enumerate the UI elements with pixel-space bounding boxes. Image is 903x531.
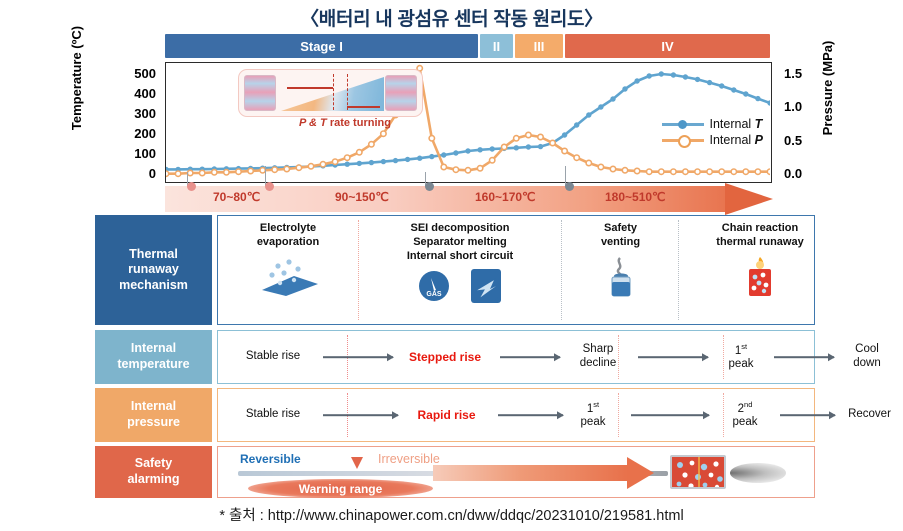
row-label-line: temperature: [117, 357, 189, 373]
series-marker: [671, 169, 676, 174]
series-marker: [755, 96, 760, 101]
legend-swatch-internal-t: [662, 123, 704, 126]
series-marker: [574, 122, 579, 127]
y-tick-right-1.0: 1.0: [784, 99, 826, 114]
stage-segment-4: IV: [565, 34, 770, 58]
row-body-mechanism: Electrolyte evaporationSEI decomposition…: [217, 215, 815, 325]
mechanism-divider-1: [358, 220, 359, 320]
series-marker: [465, 148, 470, 153]
series-marker: [345, 155, 350, 160]
figure-root: 〈배터리 내 광섬유 센터 작동 원리도〉 Stage IIIIIIIV Tem…: [0, 0, 903, 531]
series-marker: [767, 169, 770, 174]
series-marker: [550, 140, 555, 145]
safety-progression-arrow-icon: [433, 465, 628, 481]
series-marker: [659, 169, 664, 174]
series-marker: [248, 168, 253, 173]
series-marker: [357, 161, 362, 166]
series-marker: [175, 171, 180, 176]
inset-caption-text: rate turning: [327, 117, 391, 129]
legend-label-internal-t: Internal T: [709, 117, 762, 131]
flow-step-ordinal: nd: [744, 400, 752, 409]
series-marker: [538, 134, 543, 139]
row-label-line: pressure: [127, 415, 180, 431]
range-marker-dot-3: [425, 182, 434, 191]
row-body-pressure: Stable riseRapid rise1stpeak2ndpeakRecov…: [217, 388, 815, 442]
range-marker-dot-4: [565, 182, 574, 191]
safety-reversible-label: Reversible: [240, 452, 301, 466]
row-label-line: Safety: [135, 456, 173, 472]
range-marker-dot-1: [187, 182, 196, 191]
series-marker: [634, 168, 639, 173]
inset-gradient-plot: [279, 73, 382, 113]
source-caption: * 출처 : http://www.chinapower.com.cn/dww/…: [0, 504, 903, 525]
flow-arrow-1: [323, 414, 398, 416]
series-marker: [405, 157, 410, 162]
row-body-temperature: Stable riseStepped riseSharp decline1stp…: [217, 330, 815, 384]
series-marker: [526, 132, 531, 137]
legend-item-internal-t: Internal T: [662, 117, 763, 131]
range-label-4: 180~510℃: [605, 190, 666, 204]
series-marker: [586, 112, 591, 117]
row-label-mechanism: Thermalrunawaymechanism: [95, 215, 212, 325]
row-internal-pressure: Internalpressure Stable riseRapid rise1s…: [95, 388, 815, 442]
burning-particles-svg: [672, 457, 726, 489]
inset-caption-symbols: P & T: [299, 117, 327, 129]
stage-segment-2: II: [480, 34, 513, 58]
series-marker: [308, 164, 313, 169]
inset-caption: P & T rate turning: [270, 117, 420, 129]
flow-step-5: Cool down: [832, 331, 902, 383]
series-marker: [453, 150, 458, 155]
series-marker: [755, 169, 760, 174]
range-label-3: 160~170℃: [475, 190, 536, 204]
series-marker: [634, 78, 639, 83]
y-tick-left-400: 400: [114, 86, 156, 101]
row-label-line: Internal: [131, 399, 176, 415]
inset-dash-right: [347, 74, 348, 110]
inset-arrow-right: [347, 106, 380, 108]
series-marker: [514, 136, 519, 141]
row-label-line: Internal: [131, 341, 176, 357]
series-marker: [320, 162, 325, 167]
flow-step-1: Stable rise: [218, 389, 328, 441]
gas-and-short-circuit-icon: GAS: [419, 269, 501, 303]
stage-segment-3: III: [515, 34, 563, 58]
series-marker: [188, 170, 193, 175]
electrolyte-evaporation-icon: [256, 256, 320, 301]
legend-prefix-p: Internal: [709, 133, 754, 147]
flow-arrow-2: [500, 356, 560, 358]
series-marker: [743, 91, 748, 96]
flow-step-ordinal: st: [593, 400, 599, 409]
short-circuit-icon: [471, 269, 501, 303]
row-safety-alarming: Safetyalarming Reversible Irreversible W…: [95, 446, 815, 498]
flow-step-4: 1stpeak: [706, 331, 776, 383]
mechanism-cell-3: Safety venting: [563, 216, 678, 324]
series-marker: [562, 148, 567, 153]
gas-icon-text: GAS: [419, 291, 449, 298]
row-label-line: runaway: [128, 262, 179, 278]
series-marker: [490, 146, 495, 151]
inset-rate-turning: [238, 69, 423, 117]
series-marker: [417, 156, 422, 161]
legend-swatch-internal-p: [662, 139, 704, 142]
flow-step-ordinal: st: [741, 342, 747, 351]
range-label-1: 70~80℃: [213, 190, 260, 204]
range-label-2: 90~150℃: [335, 190, 389, 204]
battery-cell-right-icon: [385, 75, 417, 111]
y-tick-right-0.5: 0.5: [784, 133, 826, 148]
series-marker: [477, 147, 482, 152]
series-marker: [200, 170, 205, 175]
series-marker: [381, 159, 386, 164]
gas-meter-icon: GAS: [419, 271, 449, 301]
series-marker: [683, 169, 688, 174]
legend-symbol-t: T: [755, 117, 763, 131]
series-marker: [719, 169, 724, 174]
mechanism-cell-2: SEI decomposition Separator melting Inte…: [360, 216, 560, 324]
flow-arrow-4: [774, 356, 834, 358]
series-marker: [272, 167, 277, 172]
series-marker: [453, 167, 458, 172]
series-marker: [465, 168, 470, 173]
y-tick-left-500: 500: [114, 66, 156, 81]
legend-prefix-t: Internal: [709, 117, 754, 131]
venting-cell-icon: [604, 256, 638, 303]
series-marker: [610, 166, 615, 171]
series-marker: [683, 74, 688, 79]
series-marker: [598, 104, 603, 109]
series-marker: [236, 169, 241, 174]
range-marker-dot-2: [265, 182, 274, 191]
stage-bar: Stage IIIIIIIV: [165, 34, 770, 58]
row-label-safety: Safetyalarming: [95, 446, 212, 498]
series-marker: [296, 165, 301, 170]
flow-step-5: Recover: [832, 389, 903, 441]
plot-area: P & T rate turning Internal T Internal P: [165, 62, 772, 183]
series-marker: [526, 144, 531, 149]
series-marker: [731, 87, 736, 92]
y-tick-left-0: 0: [114, 166, 156, 181]
y-tick-right-1.5: 1.5: [784, 66, 826, 81]
series-marker: [598, 164, 603, 169]
series-marker: [332, 159, 337, 164]
series-marker: [429, 154, 434, 159]
flow-arrow-4: [780, 414, 835, 416]
series-marker: [429, 136, 434, 141]
row-label-line: alarming: [127, 472, 179, 488]
flow-arrow-1: [323, 356, 393, 358]
series-marker: [357, 150, 362, 155]
chart-container: Temperature (ºC) Pressure (MPa) 01002003…: [62, 60, 852, 185]
mechanism-divider-3: [678, 220, 679, 320]
mechanism-cell-text: Chain reaction thermal runaway: [716, 222, 803, 250]
series-marker: [719, 83, 724, 88]
series-marker: [514, 145, 519, 150]
series-marker: [707, 169, 712, 174]
series-marker: [695, 169, 700, 174]
mechanism-cell-text: Safety venting: [601, 222, 640, 250]
series-marker: [647, 73, 652, 78]
series-marker: [707, 80, 712, 85]
flow-step-text: 1stpeak: [729, 342, 754, 372]
row-label-pressure: Internalpressure: [95, 388, 212, 442]
battery-cell-left-icon: [244, 75, 276, 111]
series-marker: [381, 131, 386, 136]
mechanism-divider-2: [561, 220, 562, 320]
legend-label-internal-p: Internal P: [709, 133, 763, 147]
series-marker: [212, 170, 217, 175]
series-marker: [586, 160, 591, 165]
series-marker: [345, 162, 350, 167]
series-marker: [562, 132, 567, 137]
row-label-line: mechanism: [119, 278, 188, 294]
y-tick-left-100: 100: [114, 146, 156, 161]
thermal-runaway-svg: [743, 256, 777, 298]
flow-step-3: 1stpeak: [558, 389, 628, 441]
y-axis-label-left: Temperature (ºC): [69, 23, 89, 133]
series-marker: [647, 169, 652, 174]
flow-arrow-3: [631, 414, 709, 416]
y-tick-right-0.0: 0.0: [784, 166, 826, 181]
series-marker: [538, 144, 543, 149]
flow-arrow-3: [638, 356, 708, 358]
flow-arrow-2: [498, 414, 563, 416]
thermal-runaway-cell-icon: [743, 256, 777, 303]
legend-symbol-p: P: [755, 133, 763, 147]
y-axis-label-right: Pressure (MPa): [820, 33, 840, 143]
mechanism-cell-text: SEI decomposition Separator melting Inte…: [407, 222, 513, 263]
series-marker: [369, 160, 374, 165]
series-marker: [574, 155, 579, 160]
series-marker: [441, 152, 446, 157]
series-marker: [610, 96, 615, 101]
series-marker: [695, 77, 700, 82]
series-marker: [284, 166, 289, 171]
y-tick-left-300: 300: [114, 106, 156, 121]
mechanism-cell-4: Chain reaction thermal runaway: [680, 216, 840, 324]
series-marker: [743, 169, 748, 174]
series-marker: [659, 71, 664, 76]
temperature-range-band: 70~80℃90~150℃160~170℃180~510℃: [165, 186, 775, 212]
y-tick-left-200: 200: [114, 126, 156, 141]
row-thermal-runaway-mechanism: Thermalrunawaymechanism Electrolyte evap…: [95, 215, 815, 325]
mechanism-cell-text: Electrolyte evaporation: [257, 222, 319, 250]
flow-step-text: 1stpeak: [581, 400, 606, 430]
flow-step-2: Rapid rise: [394, 389, 499, 441]
series-marker: [224, 170, 229, 175]
safety-warning-range-label: Warning range: [248, 479, 433, 498]
series-marker: [477, 166, 482, 171]
inset-dash-left: [333, 74, 334, 110]
series-marker: [393, 158, 398, 163]
series-marker: [731, 169, 736, 174]
series-marker: [441, 164, 446, 169]
row-label-temperature: Internaltemperature: [95, 330, 212, 384]
flow-step-3: Sharp decline: [558, 331, 638, 383]
safety-threshold-arrow-icon: [351, 457, 363, 469]
series-marker: [622, 86, 627, 91]
chart-legend: Internal T Internal P: [662, 117, 763, 147]
series-marker: [502, 144, 507, 149]
evaporation-svg: [256, 256, 320, 296]
flow-step-1: Stable rise: [218, 331, 328, 383]
safety-irreversible-label: Irreversible: [378, 452, 440, 466]
series-marker: [490, 158, 495, 163]
range-band-arrow-tip: [725, 183, 773, 215]
series-marker: [622, 168, 627, 173]
legend-item-internal-p: Internal P: [662, 133, 763, 147]
series-marker: [369, 142, 374, 147]
flow-step-2: Stepped rise: [390, 331, 500, 383]
series-marker: [166, 171, 169, 176]
page-title: 〈배터리 내 광섬유 센터 작동 원리도〉: [0, 4, 903, 31]
venting-svg: [604, 256, 638, 298]
inset-arrow-left: [287, 87, 332, 89]
safety-burning-cell-icon: [670, 455, 726, 489]
flow-step-4: 2ndpeak: [710, 389, 780, 441]
series-marker: [671, 72, 676, 77]
row-label-line: Thermal: [129, 247, 178, 263]
row-body-safety: Reversible Irreversible Warning range: [217, 446, 815, 498]
row-internal-temperature: Internaltemperature Stable riseStepped r…: [95, 330, 815, 384]
safety-smoke-icon: [730, 463, 786, 483]
stage-segment-1: Stage I: [165, 34, 478, 58]
mechanism-cell-1: Electrolyte evaporation: [218, 216, 358, 324]
flow-step-text: 2ndpeak: [733, 400, 758, 430]
